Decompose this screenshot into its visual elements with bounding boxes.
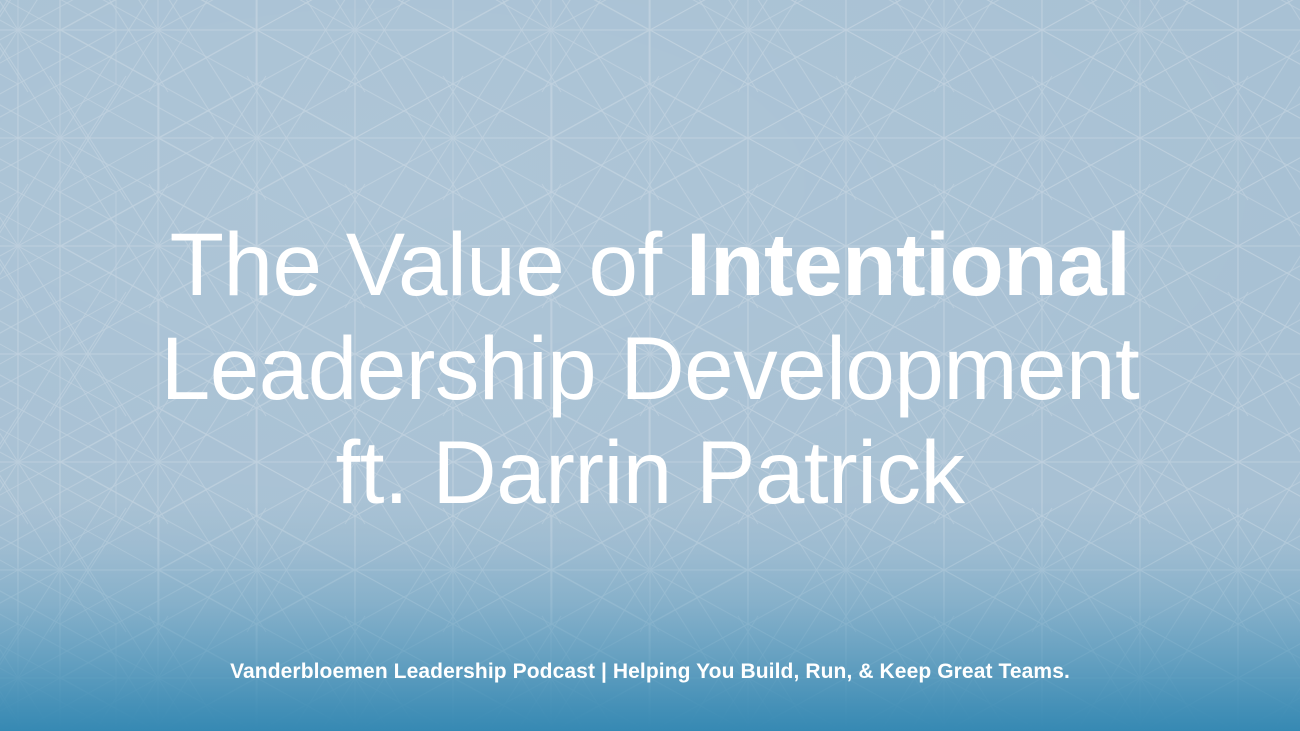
title-line-1: The Value of Intentional [0, 212, 1300, 316]
episode-title: The Value of Intentional Leadership Deve… [0, 212, 1300, 524]
title-line-1-bold: Intentional [686, 214, 1130, 314]
title-line-3: ft. Darrin Patrick [0, 420, 1300, 524]
title-line-2: Leadership Development [0, 316, 1300, 420]
slide-content: The Value of Intentional Leadership Deve… [0, 0, 1300, 731]
title-line-1-light: The Value of [170, 214, 686, 314]
title-card-slide: The Value of Intentional Leadership Deve… [0, 0, 1300, 731]
podcast-tagline: Vanderbloemen Leadership Podcast | Helpi… [0, 659, 1300, 685]
